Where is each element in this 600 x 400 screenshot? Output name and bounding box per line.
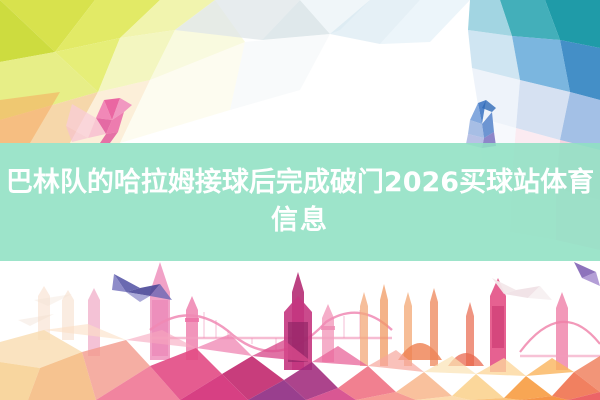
low-poly-banner: 巴林队的哈拉姆接球后完成破门2026买球站体育 信息 — [0, 0, 600, 400]
mint-band — [0, 0, 600, 400]
